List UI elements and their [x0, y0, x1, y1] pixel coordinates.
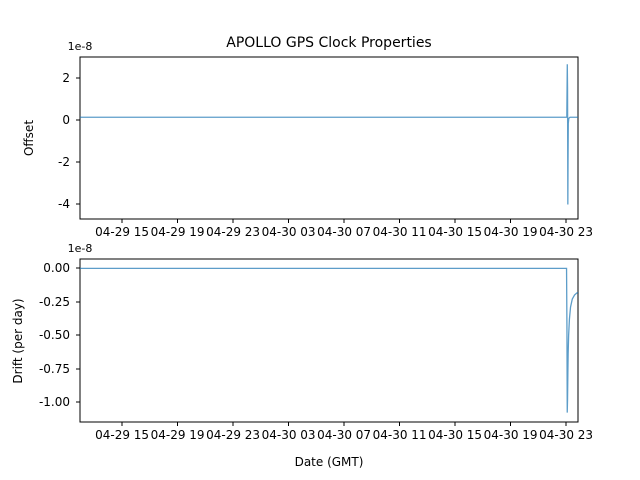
figure-background [0, 0, 640, 480]
x-ticklabel-offset: 04-30 07 [317, 225, 371, 239]
y-ticklabel-offset: -4 [58, 197, 70, 211]
x-ticklabel-offset: 04-30 03 [262, 225, 316, 239]
x-ticklabel-offset: 04-30 15 [428, 225, 482, 239]
x-ticklabel-offset: 04-29 15 [95, 225, 149, 239]
y-ticklabel-drift: -0.25 [39, 295, 70, 309]
y-axis-offset-text-offset: 1e-8 [68, 40, 93, 53]
x-ticklabel-drift: 04-29 23 [206, 428, 260, 442]
figure-canvas: 2 0 -2 -4 1e-8 04-29 15 04-29 19 04-29 2… [0, 0, 640, 480]
y-axis-offset-text-drift: 1e-8 [68, 242, 93, 255]
x-ticklabel-offset: 04-30 11 [373, 225, 427, 239]
y-axis-label-offset: Offset [22, 120, 36, 156]
matplotlib-figure: 2 0 -2 -4 1e-8 04-29 15 04-29 19 04-29 2… [0, 0, 640, 480]
y-ticklabel-drift: -0.75 [39, 362, 70, 376]
x-ticklabel-drift: 04-29 19 [151, 428, 205, 442]
x-ticklabel-offset: 04-29 19 [151, 225, 205, 239]
x-ticklabel-offset: 04-30 23 [539, 225, 593, 239]
x-ticklabel-drift: 04-29 15 [95, 428, 149, 442]
x-ticklabel-offset: 04-30 19 [484, 225, 538, 239]
y-axis-label-drift: Drift (per day) [11, 298, 25, 383]
y-ticklabel-drift: -0.50 [39, 328, 70, 342]
x-ticklabel-drift: 04-30 23 [539, 428, 593, 442]
x-ticklabel-drift: 04-30 15 [428, 428, 482, 442]
y-ticklabel-offset: 0 [62, 113, 70, 127]
y-ticklabel-offset: 2 [62, 71, 70, 85]
x-ticklabel-drift: 04-30 19 [484, 428, 538, 442]
y-ticklabel-offset: -2 [58, 155, 70, 169]
x-ticklabel-drift: 04-30 03 [262, 428, 316, 442]
x-ticklabel-offset: 04-29 23 [206, 225, 260, 239]
y-ticklabel-drift: 0.00 [43, 261, 70, 275]
chart-title: APOLLO GPS Clock Properties [226, 35, 431, 51]
y-ticklabel-drift: -1.00 [39, 395, 70, 409]
x-axis-label-drift: Date (GMT) [295, 455, 364, 469]
x-ticklabel-drift: 04-30 11 [373, 428, 427, 442]
x-ticklabel-drift: 04-30 07 [317, 428, 371, 442]
